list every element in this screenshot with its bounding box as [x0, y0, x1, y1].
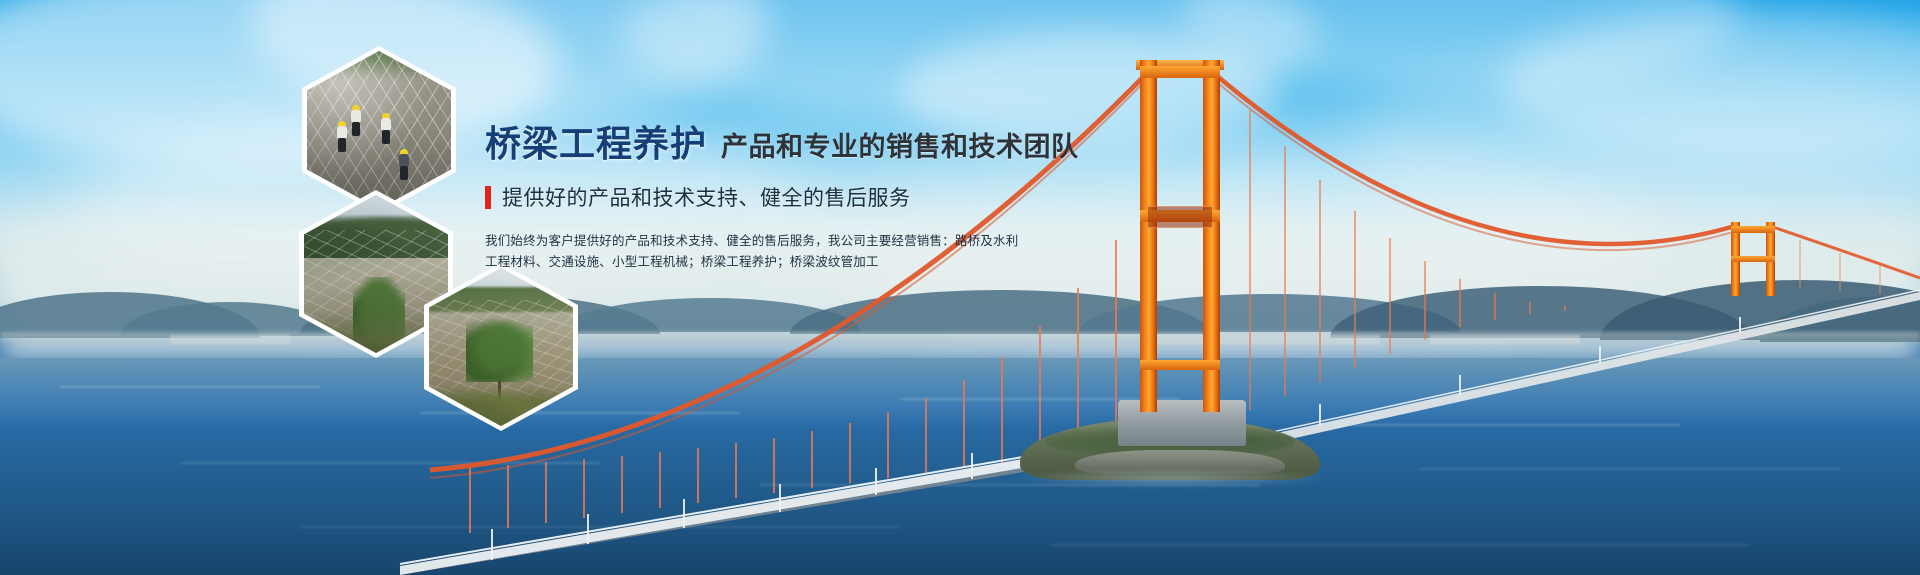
wave — [60, 386, 320, 388]
sea-highlight — [0, 358, 1920, 428]
cloud — [1350, 60, 1920, 230]
cloud — [620, 0, 1320, 120]
banner-subheadline: 提供好的产品和技术支持、健全的售后服务 — [485, 182, 1105, 212]
banner-headline: 桥梁工程养护 产品和专业的销售和技术团队 — [485, 126, 1105, 162]
worker-legs — [352, 122, 360, 136]
cloud — [1500, 10, 1920, 160]
wave — [180, 462, 600, 464]
hero-banner: 桥梁工程养护 产品和专业的销售和技术团队 提供好的产品和技术支持、健全的售后服务… — [0, 0, 1920, 575]
banner-copy: 桥梁工程养护 产品和专业的销售和技术团队 提供好的产品和技术支持、健全的售后服务… — [485, 126, 1105, 273]
hex-photo-rock-slope-netting-workers — [302, 46, 456, 214]
photo-shading — [429, 268, 573, 426]
wave — [1320, 424, 1680, 426]
cloud — [1180, 0, 1740, 90]
photo-shading — [307, 51, 451, 209]
cloud — [0, 0, 560, 170]
photo-slope-tree — [429, 268, 573, 426]
wave — [1420, 468, 1840, 470]
photo-rock-slope — [307, 51, 451, 209]
accent-bar — [485, 186, 491, 209]
wave — [300, 526, 900, 528]
wave — [1050, 544, 1750, 546]
paragraph-line-2: 工程材料、交通设施、小型工程机械；桥梁工程养护；桥梁波纹管加工 — [485, 252, 1105, 273]
headline-primary: 桥梁工程养护 — [485, 126, 707, 162]
sea-background — [0, 358, 1920, 575]
subheadline-text: 提供好的产品和技术支持、健全的售后服务 — [502, 182, 911, 212]
banner-paragraph: 我们始终为客户提供好的产品和技术支持、健全的售后服务，我公司主要经营销售：路桥及… — [485, 231, 1105, 273]
wave — [900, 398, 1180, 400]
worker-legs — [382, 130, 390, 144]
shoreline — [0, 332, 1920, 344]
hex-photo-slope-with-tree-netting — [424, 263, 578, 431]
worker-legs — [400, 166, 408, 180]
worker-legs — [338, 138, 346, 152]
wave — [760, 484, 1260, 486]
headline-secondary: 产品和专业的销售和技术团队 — [721, 134, 1079, 161]
paragraph-line-1: 我们始终为客户提供好的产品和技术支持、健全的售后服务，我公司主要经营销售：路桥及… — [485, 231, 1105, 252]
